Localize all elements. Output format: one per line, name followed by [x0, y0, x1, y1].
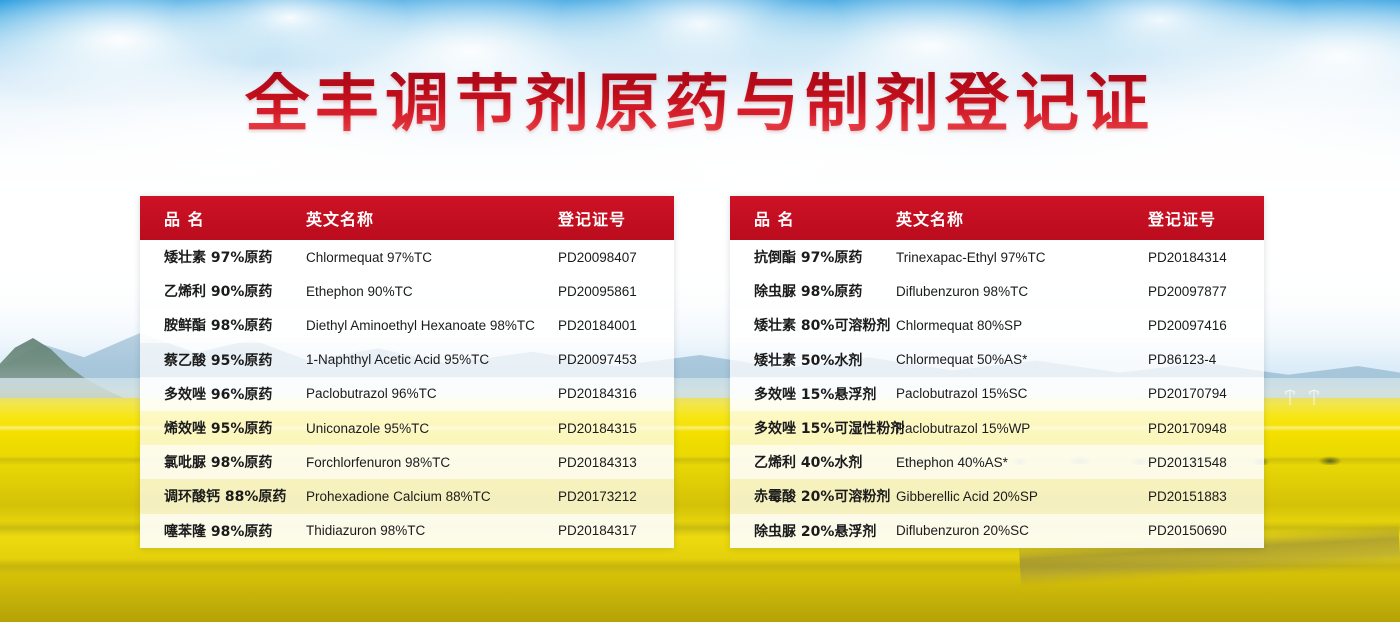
cell-name: 除虫脲 98%原药 — [730, 281, 896, 301]
cell-name: 矮壮素 50%水剂 — [730, 350, 896, 370]
cell-registration-no: PD20097877 — [1148, 284, 1264, 299]
cell-name: 调环酸钙 88%原药 — [140, 486, 306, 506]
cell-english: Paclobutrazol 15%WP — [896, 421, 1148, 436]
cell-registration-no: PD20184315 — [558, 421, 674, 436]
cell-name: 矮壮素 97%原药 — [140, 247, 306, 267]
cell-english: Diflubenzuron 20%SC — [896, 523, 1148, 538]
cell-registration-no: PD20097416 — [1148, 318, 1264, 333]
table-row: 赤霉酸 20%可溶粉剂 Gibberellic Acid 20%SP PD201… — [730, 479, 1264, 513]
table-row: 乙烯利 40%水剂 Ethephon 40%AS* PD20131548 — [730, 445, 1264, 479]
column-header-name: 品 名 — [730, 206, 896, 230]
column-header-name: 品 名 — [140, 206, 306, 230]
cell-english: Chlormequat 80%SP — [896, 318, 1148, 333]
cell-name: 多效唑 96%原药 — [140, 384, 306, 404]
cell-name: 蔡乙酸 95%原药 — [140, 350, 306, 370]
page-title: 全丰调节剂原药与制剂登记证 — [0, 72, 1400, 136]
cell-english: Thidiazuron 98%TC — [306, 523, 558, 538]
cell-registration-no: PD86123-4 — [1148, 352, 1264, 367]
cell-registration-no: PD20095861 — [558, 284, 674, 299]
cell-registration-no: PD20170794 — [1148, 386, 1264, 401]
right-table-header-row: 品 名 英文名称 登记证号 — [730, 196, 1264, 240]
cell-registration-no: PD20131548 — [1148, 455, 1264, 470]
table-row: 多效唑 15%可湿性粉剂 Paclobutrazol 15%WP PD20170… — [730, 411, 1264, 445]
table-row: 蔡乙酸 95%原药 1-Naphthyl Acetic Acid 95%TC P… — [140, 343, 674, 377]
cell-registration-no: PD20097453 — [558, 352, 674, 367]
cell-registration-no: PD20184313 — [558, 455, 674, 470]
cell-english: Diflubenzuron 98%TC — [896, 284, 1148, 299]
table-row: 矮壮素 97%原药 Chlormequat 97%TC PD20098407 — [140, 240, 674, 274]
cell-name: 矮壮素 80%可溶粉剂 — [730, 315, 896, 335]
right-certificate-table: 品 名 英文名称 登记证号 抗倒酯 97%原药 Trinexapac-Ethyl… — [730, 196, 1264, 548]
cell-registration-no: PD20184317 — [558, 523, 674, 538]
cell-name: 赤霉酸 20%可溶粉剂 — [730, 486, 896, 506]
cell-registration-no: PD20184314 — [1148, 250, 1264, 265]
cell-english: Ethephon 90%TC — [306, 284, 558, 299]
cell-registration-no: PD20170948 — [1148, 421, 1264, 436]
cell-registration-no: PD20184001 — [558, 318, 674, 333]
table-row: 除虫脲 20%悬浮剂 Diflubenzuron 20%SC PD2015069… — [730, 514, 1264, 548]
left-table-body: 矮壮素 97%原药 Chlormequat 97%TC PD20098407 乙… — [140, 240, 674, 548]
table-row: 矮壮素 80%可溶粉剂 Chlormequat 80%SP PD20097416 — [730, 308, 1264, 342]
table-row: 胺鲜酯 98%原药 Diethyl Aminoethyl Hexanoate 9… — [140, 308, 674, 342]
cell-name: 多效唑 15%悬浮剂 — [730, 384, 896, 404]
table-row: 噻苯隆 98%原药 Thidiazuron 98%TC PD20184317 — [140, 514, 674, 548]
cell-name: 烯效唑 95%原药 — [140, 418, 306, 438]
table-row: 氯吡脲 98%原药 Forchlorfenuron 98%TC PD201843… — [140, 445, 674, 479]
cell-name: 噻苯隆 98%原药 — [140, 521, 306, 541]
cell-english: Forchlorfenuron 98%TC — [306, 455, 558, 470]
cell-english: Uniconazole 95%TC — [306, 421, 558, 436]
cell-name: 除虫脲 20%悬浮剂 — [730, 521, 896, 541]
column-header-registration-no: 登记证号 — [558, 206, 674, 230]
cell-english: Gibberellic Acid 20%SP — [896, 489, 1148, 504]
column-header-registration-no: 登记证号 — [1148, 206, 1264, 230]
table-row: 调环酸钙 88%原药 Prohexadione Calcium 88%TC PD… — [140, 479, 674, 513]
table-row: 乙烯利 90%原药 Ethephon 90%TC PD20095861 — [140, 274, 674, 308]
cell-english: Prohexadione Calcium 88%TC — [306, 489, 558, 504]
cell-english: Paclobutrazol 96%TC — [306, 386, 558, 401]
table-row: 烯效唑 95%原药 Uniconazole 95%TC PD20184315 — [140, 411, 674, 445]
left-certificate-table: 品 名 英文名称 登记证号 矮壮素 97%原药 Chlormequat 97%T… — [140, 196, 674, 548]
cell-registration-no: PD20098407 — [558, 250, 674, 265]
table-row: 多效唑 96%原药 Paclobutrazol 96%TC PD20184316 — [140, 377, 674, 411]
cell-name: 氯吡脲 98%原药 — [140, 452, 306, 472]
cell-english: Paclobutrazol 15%SC — [896, 386, 1148, 401]
column-header-english: 英文名称 — [896, 206, 1148, 230]
cell-english: Chlormequat 50%AS* — [896, 352, 1148, 367]
table-row: 多效唑 15%悬浮剂 Paclobutrazol 15%SC PD2017079… — [730, 377, 1264, 411]
certificate-tables: 品 名 英文名称 登记证号 矮壮素 97%原药 Chlormequat 97%T… — [140, 196, 1264, 548]
table-row: 抗倒酯 97%原药 Trinexapac-Ethyl 97%TC PD20184… — [730, 240, 1264, 274]
cell-registration-no: PD20151883 — [1148, 489, 1264, 504]
cell-english: 1-Naphthyl Acetic Acid 95%TC — [306, 352, 558, 367]
cell-english: Diethyl Aminoethyl Hexanoate 98%TC — [306, 318, 558, 333]
cell-english: Chlormequat 97%TC — [306, 250, 558, 265]
table-row: 矮壮素 50%水剂 Chlormequat 50%AS* PD86123-4 — [730, 343, 1264, 377]
cell-english: Trinexapac-Ethyl 97%TC — [896, 250, 1148, 265]
power-pylons — [1280, 386, 1340, 406]
cell-name: 多效唑 15%可湿性粉剂 — [730, 418, 896, 438]
cell-english: Ethephon 40%AS* — [896, 455, 1148, 470]
cell-name: 抗倒酯 97%原药 — [730, 247, 896, 267]
left-table-header-row: 品 名 英文名称 登记证号 — [140, 196, 674, 240]
cell-name: 乙烯利 90%原药 — [140, 281, 306, 301]
cell-registration-no: PD20150690 — [1148, 523, 1264, 538]
right-table-body: 抗倒酯 97%原药 Trinexapac-Ethyl 97%TC PD20184… — [730, 240, 1264, 548]
poster-stage: 全丰调节剂原药与制剂登记证 品 名 英文名称 登记证号 矮壮素 97%原药 Ch… — [0, 0, 1400, 622]
cell-registration-no: PD20184316 — [558, 386, 674, 401]
cell-name: 胺鲜酯 98%原药 — [140, 315, 306, 335]
column-header-english: 英文名称 — [306, 206, 558, 230]
cell-name: 乙烯利 40%水剂 — [730, 452, 896, 472]
table-row: 除虫脲 98%原药 Diflubenzuron 98%TC PD20097877 — [730, 274, 1264, 308]
cell-registration-no: PD20173212 — [558, 489, 674, 504]
